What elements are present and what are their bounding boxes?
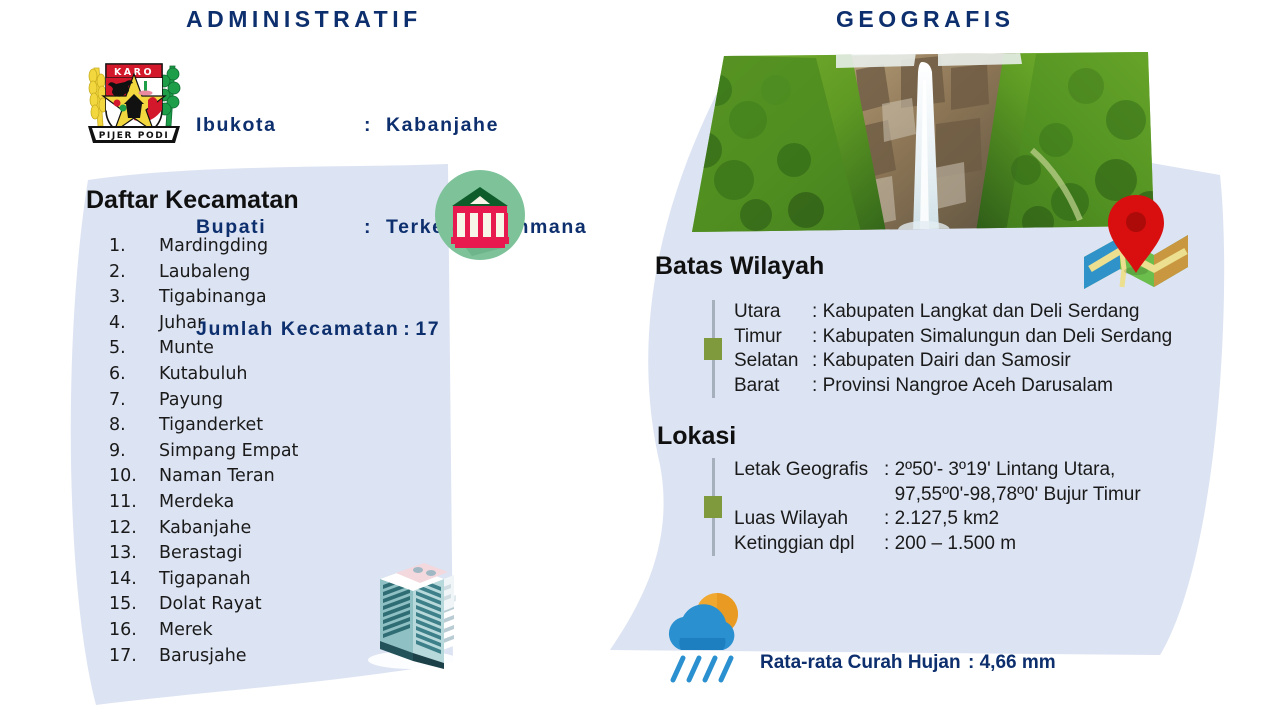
list-item: 13.Berastagi: [103, 541, 393, 567]
list-item: 14.Tigapanah: [103, 567, 393, 593]
fact-separator: :: [364, 113, 386, 139]
list-item-number: 15.: [103, 592, 159, 618]
list-item-number: 6.: [103, 362, 159, 388]
batas-wilayah-group: Utara: Kabupaten Langkat dan Deli Serdan…: [700, 300, 1220, 398]
batas-label-selatan: Selatan: [734, 349, 812, 374]
list-item-label: Tiganderket: [159, 413, 393, 439]
bullet-rail: [700, 300, 726, 398]
batas-value-utara: : Kabupaten Langkat dan Deli Serdang: [812, 300, 1172, 325]
kecamatan-list: 1.Mardingding 2.Laubaleng 3.Tigabinanga …: [103, 234, 393, 669]
list-item: 2.Laubaleng: [103, 260, 393, 286]
list-item-number: 7.: [103, 388, 159, 414]
batas-value-timur: : Kabupaten Simalungun dan Deli Serdang: [812, 325, 1172, 350]
list-item-number: 4.: [103, 311, 159, 337]
list-item: 16.Merek: [103, 618, 393, 644]
list-item: 7.Payung: [103, 388, 393, 414]
list-item: 9.Simpang Empat: [103, 439, 393, 465]
batas-label-timur: Timur: [734, 325, 812, 350]
list-item: 11.Merdeka: [103, 490, 393, 516]
page-title-geografis: GEOGRAFIS: [836, 6, 1015, 33]
list-item-number: 2.: [103, 260, 159, 286]
list-item: 6.Kutabuluh: [103, 362, 393, 388]
list-item-label: Payung: [159, 388, 393, 414]
list-item-number: 1.: [103, 234, 159, 260]
list-item-number: 13.: [103, 541, 159, 567]
svg-text:PIJER PODI: PIJER PODI: [99, 131, 170, 141]
fact-value-ibukota: Kabanjahe: [386, 114, 499, 136]
government-building-icon: [432, 170, 528, 266]
batas-wilayah-heading: Batas Wilayah: [655, 252, 824, 281]
batas-label-utara: Utara: [734, 300, 812, 325]
list-item-number: 5.: [103, 336, 159, 362]
fact-row-ibukota: Ibukota:Kabanjahe: [196, 113, 587, 139]
batas-row-utara: Utara: Kabupaten Langkat dan Deli Serdan…: [734, 300, 1172, 325]
list-item-label: Tigabinanga: [159, 285, 393, 311]
lokasi-label-luas-wilayah: Luas Wilayah: [734, 507, 884, 532]
list-item-number: 10.: [103, 464, 159, 490]
list-item-number: 14.: [103, 567, 159, 593]
batas-label-barat: Barat: [734, 374, 812, 399]
lokasi-row-ketinggian-dpl: Ketinggian dpl: 200 – 1.500 m: [734, 532, 1141, 557]
list-item-number: 11.: [103, 490, 159, 516]
batas-row-timur: Timur: Kabupaten Simalungun dan Deli Ser…: [734, 325, 1172, 350]
list-item-label: Munte: [159, 336, 393, 362]
lokasi-rows: Letak Geografis: 2º50'- 3º19' Lintang Ut…: [726, 458, 1141, 556]
list-item: 12.Kabanjahe: [103, 516, 393, 542]
bullet-square-marker: [704, 338, 722, 360]
list-item-number: 9.: [103, 439, 159, 465]
infographic-canvas: ADMINISTRATIF GEOGRAFIS KARO: [0, 0, 1280, 720]
weather-label-curah-hujan: Rata-rata Curah Hujan: [760, 650, 968, 676]
weather-row-curah-hujan: Rata-rata Curah Hujan: 4,66 mm: [760, 650, 1067, 676]
page-title-administratif: ADMINISTRATIF: [186, 6, 422, 33]
lokasi-label-ketinggian-dpl: Ketinggian dpl: [734, 532, 884, 557]
list-item-label: Laubaleng: [159, 260, 393, 286]
list-item-label: Kutabuluh: [159, 362, 393, 388]
lokasi-heading: Lokasi: [657, 422, 736, 451]
karo-regency-emblem-icon: KARO PIJER PODI: [78, 48, 190, 150]
batas-row-selatan: Selatan: Kabupaten Dairi dan Samosir: [734, 349, 1172, 374]
fact-separator: :: [399, 317, 415, 343]
lokasi-label-letak-geografis: Letak Geografis: [734, 458, 884, 483]
lokasi-row-letak-geografis-cont: 97,55º0'-98,78º0' Bujur Timur: [734, 483, 1141, 508]
lokasi-value-letak-geografis-cont: 97,55º0'-98,78º0' Bujur Timur: [884, 483, 1141, 508]
list-item: 1.Mardingding: [103, 234, 393, 260]
fact-label-ibukota: Ibukota: [196, 113, 364, 139]
lokasi-row-letak-geografis: Letak Geografis: 2º50'- 3º19' Lintang Ut…: [734, 458, 1141, 483]
lokasi-label-empty: [734, 483, 884, 508]
list-item-number: 17.: [103, 644, 159, 670]
list-item-number: 16.: [103, 618, 159, 644]
list-item-label: Naman Teran: [159, 464, 393, 490]
lokasi-group: Letak Geografis: 2º50'- 3º19' Lintang Ut…: [700, 458, 1220, 556]
list-item-label: Merdeka: [159, 490, 393, 516]
batas-value-barat: : Provinsi Nangroe Aceh Darusalam: [812, 374, 1172, 399]
bullet-square-marker: [704, 496, 722, 518]
skyscraper-icon: [358, 545, 462, 670]
list-item-number: 3.: [103, 285, 159, 311]
daftar-kecamatan-heading: Daftar Kecamatan: [86, 186, 299, 215]
list-item-number: 8.: [103, 413, 159, 439]
list-item: 5.Munte: [103, 336, 393, 362]
fact-value-jumlah-kecamatan: 17: [415, 318, 440, 340]
lokasi-value-letak-geografis: : 2º50'- 3º19' Lintang Utara,: [884, 458, 1141, 483]
list-item: 17.Barusjahe: [103, 644, 393, 670]
list-item: 15.Dolat Rayat: [103, 592, 393, 618]
list-item-label: Juhar: [159, 311, 393, 337]
list-item-label: Kabanjahe: [159, 516, 393, 542]
list-item: 10.Naman Teran: [103, 464, 393, 490]
batas-value-selatan: : Kabupaten Dairi dan Samosir: [812, 349, 1172, 374]
batas-row-barat: Barat: Provinsi Nangroe Aceh Darusalam: [734, 374, 1172, 399]
lokasi-value-ketinggian-dpl: : 200 – 1.500 m: [884, 532, 1141, 557]
batas-wilayah-rows: Utara: Kabupaten Langkat dan Deli Serdan…: [726, 300, 1172, 398]
list-item: 8.Tiganderket: [103, 413, 393, 439]
bullet-rail: [700, 458, 726, 556]
lokasi-value-luas-wilayah: : 2.127,5 km2: [884, 507, 1141, 532]
list-item-label: Simpang Empat: [159, 439, 393, 465]
list-item: 4.Juhar: [103, 311, 393, 337]
weather-value-curah-hujan: : 4,66 mm: [968, 650, 1067, 676]
list-item-number: 12.: [103, 516, 159, 542]
list-item: 3.Tigabinanga: [103, 285, 393, 311]
rain-cloud-sun-icon: [657, 588, 757, 684]
lokasi-row-luas-wilayah: Luas Wilayah: 2.127,5 km2: [734, 507, 1141, 532]
map-location-pin-icon: [1084, 185, 1224, 295]
weather-facts: Rata-rata Curah Hujan: 4,66 mm Rata-rata…: [760, 598, 1067, 720]
list-item-label: Mardingding: [159, 234, 393, 260]
